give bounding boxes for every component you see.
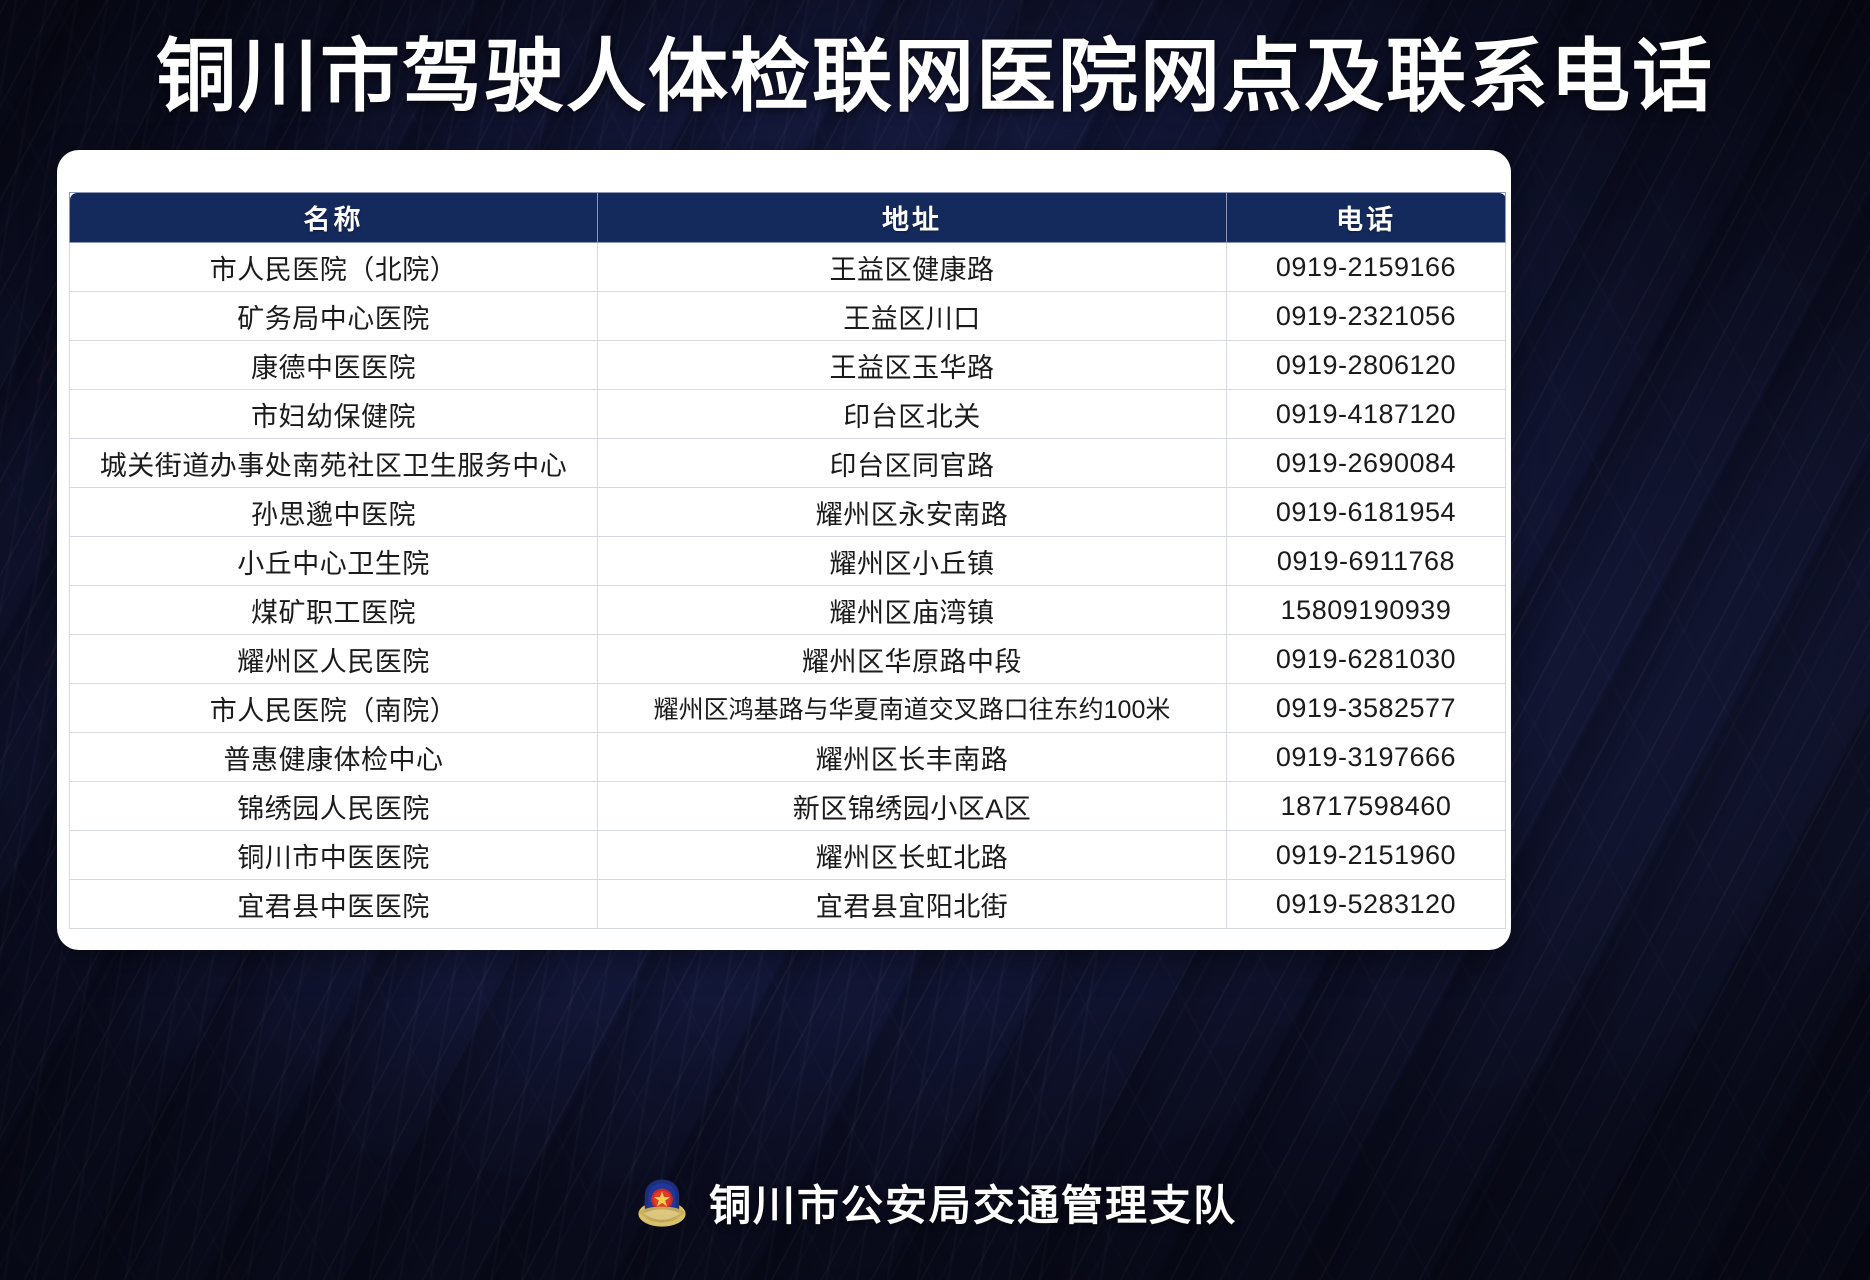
cell-phone: 0919-4187120: [1227, 390, 1506, 439]
cell-hospital-name: 矿务局中心医院: [70, 292, 598, 341]
cell-address: 耀州区小丘镇: [598, 537, 1227, 586]
cell-hospital-name: 耀州区人民医院: [70, 635, 598, 684]
cell-address: 耀州区长虹北路: [598, 831, 1227, 880]
cell-hospital-name: 小丘中心卫生院: [70, 537, 598, 586]
cell-address: 耀州区庙湾镇: [598, 586, 1227, 635]
column-header-phone: 电话: [1227, 193, 1506, 243]
cell-phone: 0919-2690084: [1227, 439, 1506, 488]
table-row: 孙思邈中医院耀州区永安南路0919-6181954: [70, 488, 1506, 537]
table-row: 锦绣园人民医院新区锦绣园小区A区18717598460: [70, 782, 1506, 831]
cell-phone: 0919-2321056: [1227, 292, 1506, 341]
cell-address: 新区锦绣园小区A区: [598, 782, 1227, 831]
cell-address: 印台区北关: [598, 390, 1227, 439]
cell-hospital-name: 孙思邈中医院: [70, 488, 598, 537]
column-header-address: 地址: [598, 193, 1227, 243]
page-title: 铜川市驾驶人体检联网医院网点及联系电话: [0, 30, 1870, 124]
police-emblem-icon: [633, 1174, 691, 1232]
cell-phone: 0919-3197666: [1227, 733, 1506, 782]
table-card: 名称 地址 电话 市人民医院（北院）王益区健康路0919-2159166矿务局中…: [57, 150, 1511, 950]
table-row: 宜君县中医医院宜君县宜阳北街0919-5283120: [70, 880, 1506, 929]
cell-hospital-name: 普惠健康体检中心: [70, 733, 598, 782]
table-row: 耀州区人民医院耀州区华原路中段0919-6281030: [70, 635, 1506, 684]
table-row: 煤矿职工医院耀州区庙湾镇15809190939: [70, 586, 1506, 635]
hospital-table: 名称 地址 电话 市人民医院（北院）王益区健康路0919-2159166矿务局中…: [69, 192, 1506, 929]
cell-address: 耀州区华原路中段: [598, 635, 1227, 684]
cell-hospital-name: 煤矿职工医院: [70, 586, 598, 635]
cell-phone: 0919-2159166: [1227, 243, 1506, 292]
cell-hospital-name: 铜川市中医医院: [70, 831, 598, 880]
cell-hospital-name: 城关街道办事处南苑社区卫生服务中心: [70, 439, 598, 488]
table-header: 名称 地址 电话: [70, 193, 1506, 243]
cell-address: 宜君县宜阳北街: [598, 880, 1227, 929]
cell-address: 耀州区长丰南路: [598, 733, 1227, 782]
cell-hospital-name: 宜君县中医医院: [70, 880, 598, 929]
table-row: 铜川市中医医院耀州区长虹北路0919-2151960: [70, 831, 1506, 880]
cell-address: 耀州区鸿基路与华夏南道交叉路口往东约100米: [598, 684, 1227, 733]
cell-hospital-name: 市人民医院（北院）: [70, 243, 598, 292]
cell-hospital-name: 市妇幼保健院: [70, 390, 598, 439]
table-row: 普惠健康体检中心耀州区长丰南路0919-3197666: [70, 733, 1506, 782]
cell-address: 王益区川口: [598, 292, 1227, 341]
footer-bar: 铜川市公安局交通管理支队: [0, 1172, 1870, 1233]
table-row: 矿务局中心医院王益区川口0919-2321056: [70, 292, 1506, 341]
table-row: 市妇幼保健院印台区北关0919-4187120: [70, 390, 1506, 439]
cell-address: 耀州区永安南路: [598, 488, 1227, 537]
table-header-row: 名称 地址 电话: [70, 193, 1506, 243]
cell-address: 印台区同官路: [598, 439, 1227, 488]
cell-phone: 0919-6911768: [1227, 537, 1506, 586]
table-row: 市人民医院（北院）王益区健康路0919-2159166: [70, 243, 1506, 292]
column-header-name: 名称: [70, 193, 598, 243]
table-row: 小丘中心卫生院耀州区小丘镇0919-6911768: [70, 537, 1506, 586]
cell-phone: 0919-2806120: [1227, 341, 1506, 390]
cell-phone: 0919-3582577: [1227, 684, 1506, 733]
footer-organization-label: 铜川市公安局交通管理支队: [709, 1172, 1237, 1233]
table-row: 城关街道办事处南苑社区卫生服务中心印台区同官路0919-2690084: [70, 439, 1506, 488]
cell-phone: 15809190939: [1227, 586, 1506, 635]
cell-address: 王益区健康路: [598, 243, 1227, 292]
cell-phone: 0919-5283120: [1227, 880, 1506, 929]
table-row: 康德中医医院王益区玉华路0919-2806120: [70, 341, 1506, 390]
table-body: 市人民医院（北院）王益区健康路0919-2159166矿务局中心医院王益区川口0…: [70, 243, 1506, 929]
cell-hospital-name: 市人民医院（南院）: [70, 684, 598, 733]
cell-address: 王益区玉华路: [598, 341, 1227, 390]
cell-phone: 0919-2151960: [1227, 831, 1506, 880]
cell-hospital-name: 锦绣园人民医院: [70, 782, 598, 831]
cell-phone: 18717598460: [1227, 782, 1506, 831]
cell-phone: 0919-6281030: [1227, 635, 1506, 684]
cell-phone: 0919-6181954: [1227, 488, 1506, 537]
cell-hospital-name: 康德中医医院: [70, 341, 598, 390]
table-row: 市人民医院（南院）耀州区鸿基路与华夏南道交叉路口往东约100米0919-3582…: [70, 684, 1506, 733]
